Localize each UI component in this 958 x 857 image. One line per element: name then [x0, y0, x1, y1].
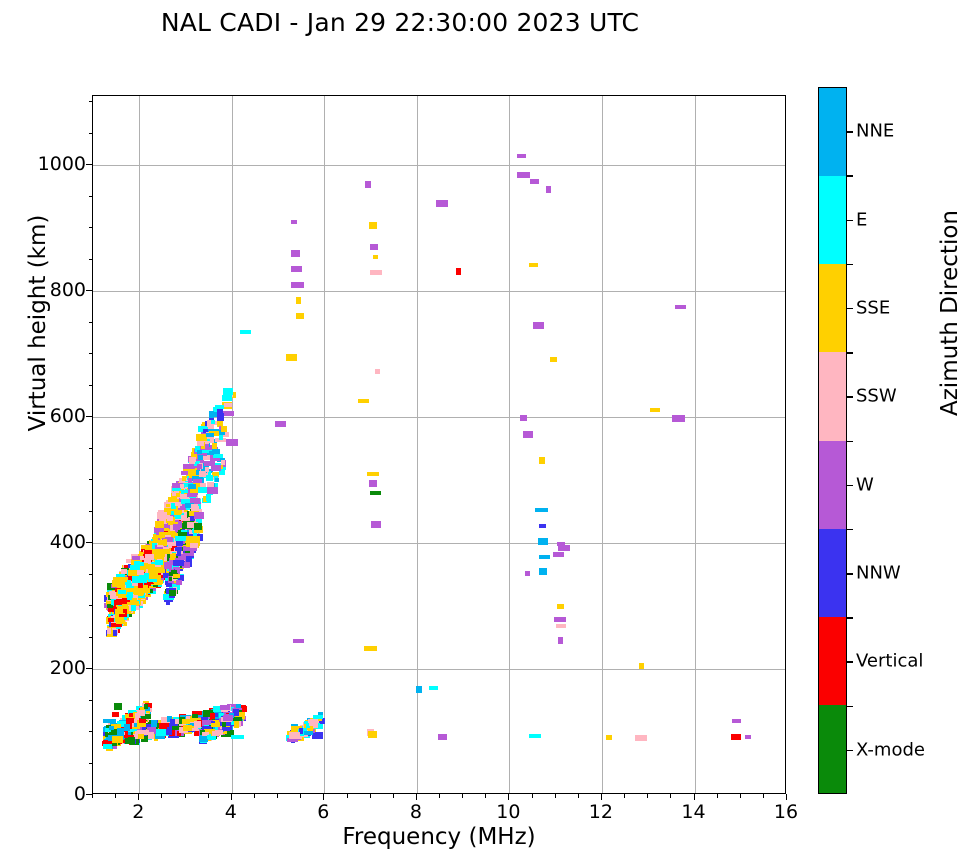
echo-mark [539, 555, 550, 559]
y-tick-label: 0 [74, 783, 86, 805]
echo-mark [144, 704, 148, 709]
x-tick-label: 16 [774, 801, 798, 823]
y-tick-major [86, 164, 92, 165]
y-tick-minor [89, 196, 93, 197]
y-tick-minor [89, 511, 93, 512]
echo-mark [109, 726, 114, 730]
echo-mark [118, 593, 123, 597]
colorbar-segment-vertical[interactable] [819, 617, 846, 705]
echo-mark [533, 322, 544, 329]
echo-mark [240, 330, 251, 334]
x-tick-major [508, 794, 509, 800]
echo-mark [234, 721, 239, 728]
y-tick-minor [89, 322, 93, 323]
echo-mark [212, 449, 220, 454]
x-tick-label: 12 [589, 801, 613, 823]
x-tick-minor [763, 794, 764, 798]
echo-mark [731, 734, 741, 740]
x-tick-minor [115, 794, 116, 798]
y-tick-major [86, 668, 92, 669]
echo-mark [175, 547, 182, 551]
echo-mark [364, 646, 377, 651]
plot-area[interactable] [92, 95, 786, 794]
echo-mark [732, 719, 741, 723]
echo-mark [375, 369, 380, 374]
echo-mark [304, 731, 313, 735]
colorbar-boundary-tick [847, 264, 853, 266]
colorbar-boundary-tick [847, 352, 853, 354]
gridline-vertical [139, 96, 140, 793]
echo-mark [523, 431, 533, 438]
y-tick-major [86, 290, 92, 291]
echo-mark [136, 577, 147, 583]
echo-mark [183, 464, 194, 469]
colorbar-tick [847, 308, 853, 310]
x-tick-minor [439, 794, 440, 798]
echo-mark [151, 720, 157, 727]
x-tick-minor [347, 794, 348, 798]
y-tick-minor [89, 731, 93, 732]
colorbar-segment-nne[interactable] [819, 88, 846, 176]
echo-mark [205, 467, 209, 472]
y-tick-minor [89, 385, 93, 386]
y-tick-minor [89, 133, 93, 134]
x-tick-major [786, 794, 787, 800]
colorbar-label-ssw: SSW [856, 386, 897, 407]
echo-mark [225, 411, 234, 416]
echo-mark [197, 450, 202, 454]
echo-mark [117, 728, 124, 735]
colorbar-tick [847, 396, 853, 398]
echo-mark [530, 179, 539, 184]
y-tick-minor [89, 479, 93, 480]
echo-mark [224, 403, 232, 407]
colorbar-label-x-mode: X-mode [856, 739, 925, 760]
echo-mark [114, 703, 122, 710]
echo-mark [312, 732, 323, 739]
echo-mark [222, 395, 232, 401]
echo-mark [429, 686, 438, 690]
x-tick-minor [161, 794, 162, 798]
echo-mark [217, 415, 224, 421]
x-tick-label: 10 [496, 801, 520, 823]
y-tick-label: 200 [50, 657, 86, 679]
x-tick-major [694, 794, 695, 800]
colorbar-tick [847, 661, 853, 663]
echo-mark [211, 723, 220, 727]
colorbar-segment-nnw[interactable] [819, 529, 846, 617]
colorbar-label-e: E [856, 209, 867, 230]
echo-mark [211, 420, 215, 424]
echo-mark [517, 154, 526, 158]
y-tick-minor [89, 700, 93, 701]
echo-mark [370, 270, 382, 275]
colorbar-boundary-tick [847, 441, 853, 443]
colorbar-segment-ssw[interactable] [819, 352, 846, 440]
echo-mark [635, 735, 647, 741]
echo-mark [189, 457, 195, 464]
echo-mark [371, 521, 381, 528]
x-tick-minor [300, 794, 301, 798]
echo-mark [149, 572, 157, 579]
echo-mark [221, 460, 225, 465]
echo-mark [198, 441, 204, 446]
x-tick-minor [555, 794, 556, 798]
y-axis-label: Virtual height (km) [25, 133, 51, 513]
x-tick-label: 4 [225, 801, 237, 823]
y-tick-minor [89, 763, 93, 764]
echo-mark [219, 435, 223, 440]
echo-mark [124, 724, 130, 731]
x-tick-minor [208, 794, 209, 798]
echo-mark [172, 553, 176, 558]
echo-mark [207, 735, 211, 739]
echo-mark [291, 220, 297, 224]
echo-mark [167, 727, 172, 734]
echo-mark [187, 493, 197, 497]
colorbar-segment-e[interactable] [819, 176, 846, 264]
echo-mark [436, 200, 448, 207]
echo-mark [129, 713, 133, 717]
colorbar-boundary-tick [847, 706, 853, 708]
echo-mark [164, 562, 172, 569]
echo-mark [291, 250, 300, 257]
echo-mark [538, 538, 548, 545]
x-tick-minor [254, 794, 255, 798]
echo-mark [529, 734, 541, 738]
echo-mark [369, 222, 377, 229]
page-title: NAL CADI - Jan 29 22:30:00 2023 UTC [0, 8, 800, 37]
colorbar-label-nne: NNE [856, 121, 894, 142]
echo-mark [291, 266, 302, 272]
echo-mark [173, 524, 180, 530]
echo-mark [309, 719, 318, 726]
x-tick-minor [485, 794, 486, 798]
echo-mark [126, 718, 134, 723]
x-tick-minor [185, 794, 186, 798]
echo-mark [296, 313, 304, 319]
echo-mark [212, 443, 217, 449]
echo-mark [296, 297, 301, 304]
colorbar-segment-w[interactable] [819, 441, 846, 529]
echo-mark [365, 181, 371, 188]
echo-mark [358, 399, 369, 403]
echo-mark [675, 305, 686, 309]
echo-mark [156, 729, 166, 736]
echo-mark [206, 433, 214, 437]
ionogram-figure: NAL CADI - Jan 29 22:30:00 2023 UTC 2468… [0, 0, 958, 857]
echo-mark [606, 735, 612, 740]
x-tick-minor [740, 794, 741, 798]
echo-mark [539, 524, 546, 528]
echo-mark [188, 484, 196, 489]
x-tick-label: 2 [132, 801, 144, 823]
colorbar-tick [847, 131, 853, 133]
echo-mark [456, 268, 461, 275]
echo-mark [182, 476, 186, 481]
y-tick-major [86, 416, 92, 417]
y-tick-label: 600 [50, 405, 86, 427]
x-tick-minor [370, 794, 371, 798]
echo-mark [127, 588, 135, 592]
echo-mark [198, 455, 203, 460]
x-tick-minor [532, 794, 533, 798]
echo-mark [148, 732, 154, 739]
echo-mark [191, 504, 198, 510]
gridline-horizontal [93, 291, 785, 292]
colorbar-boundary-tick [847, 529, 853, 531]
gridline-vertical [602, 96, 603, 793]
echo-mark [176, 541, 183, 546]
gridline-horizontal [93, 669, 785, 670]
echo-mark [438, 734, 447, 740]
y-tick-major [86, 794, 92, 795]
colorbar-tick [847, 573, 853, 575]
echo-mark [212, 731, 219, 736]
echo-mark [155, 560, 163, 565]
echo-mark [112, 736, 123, 743]
echo-mark [416, 686, 422, 693]
echo-mark [529, 263, 538, 267]
echo-mark [183, 725, 192, 731]
echo-mark [368, 731, 377, 738]
echo-mark [539, 568, 547, 575]
y-tick-label: 800 [50, 279, 86, 301]
echo-mark [369, 480, 377, 487]
echo-mark [554, 617, 566, 622]
x-tick-minor [277, 794, 278, 798]
y-tick-minor [89, 227, 93, 228]
x-tick-minor [462, 794, 463, 798]
gridline-vertical [509, 96, 510, 793]
colorbar-tick [847, 220, 853, 222]
echo-mark [215, 478, 219, 482]
echo-mark [193, 479, 202, 483]
echo-mark [154, 549, 165, 554]
echo-mark [107, 604, 113, 608]
echo-mark [194, 512, 204, 519]
echo-mark [179, 532, 187, 536]
echo-mark [127, 596, 132, 600]
y-tick-minor [89, 448, 93, 449]
gridline-vertical [324, 96, 325, 793]
y-tick-minor [89, 637, 93, 638]
colorbar-label-w: W [856, 474, 874, 495]
colorbar-label-sse: SSE [856, 297, 890, 318]
echo-mark [546, 186, 551, 193]
echo-mark [233, 709, 239, 716]
echo-mark [192, 714, 198, 718]
echo-mark [194, 523, 202, 530]
echo-mark [289, 732, 300, 739]
echo-mark [166, 583, 172, 587]
echo-mark [137, 710, 145, 716]
colorbar-tick [847, 485, 853, 487]
echo-mark [159, 532, 165, 538]
echo-mark [173, 560, 184, 566]
echo-mark [520, 415, 527, 421]
echo-mark [556, 624, 566, 628]
echo-mark [226, 439, 238, 446]
x-tick-label: 8 [410, 801, 422, 823]
colorbar-tick [847, 750, 853, 752]
echo-mark [122, 604, 128, 609]
echo-mark [173, 574, 180, 578]
y-tick-minor [89, 353, 93, 354]
colorbar-segment-x-mode[interactable] [819, 705, 846, 793]
echo-mark [204, 461, 215, 466]
echo-mark [539, 457, 545, 464]
echo-mark [223, 715, 233, 721]
echo-mark [155, 521, 164, 528]
x-tick-minor [670, 794, 671, 798]
echo-mark [199, 471, 206, 477]
gridline-horizontal [93, 165, 785, 166]
echo-mark [525, 571, 530, 576]
echo-mark [103, 744, 112, 749]
echo-mark [275, 421, 286, 427]
x-tick-minor [624, 794, 625, 798]
x-tick-major [138, 794, 139, 800]
x-tick-minor [92, 794, 93, 798]
y-tick-minor [89, 574, 93, 575]
echo-mark [221, 426, 227, 432]
x-tick-major [601, 794, 602, 800]
echo-mark [206, 475, 213, 481]
x-tick-label: 6 [317, 801, 329, 823]
echo-mark [136, 570, 144, 575]
echo-mark [181, 471, 188, 475]
echo-mark [182, 719, 190, 724]
y-tick-minor [89, 605, 93, 606]
x-tick-major [323, 794, 324, 800]
echo-mark [220, 705, 230, 710]
echo-mark [370, 244, 378, 250]
x-tick-major [231, 794, 232, 800]
colorbar[interactable] [818, 87, 847, 794]
echo-mark [553, 552, 564, 557]
x-tick-minor [717, 794, 718, 798]
echo-mark [128, 570, 137, 576]
x-tick-label: 14 [681, 801, 705, 823]
echo-mark [745, 735, 751, 739]
echo-mark [194, 721, 201, 728]
echo-mark [367, 472, 379, 476]
colorbar-title: Azimuth Direction [937, 123, 958, 503]
echo-mark [169, 590, 176, 596]
echo-mark [550, 357, 557, 362]
echo-mark [231, 735, 244, 739]
x-tick-minor [647, 794, 648, 798]
echo-mark [134, 588, 144, 595]
x-tick-minor [393, 794, 394, 798]
echo-mark [672, 415, 685, 422]
echo-mark [535, 508, 548, 512]
colorbar-segment-sse[interactable] [819, 264, 846, 352]
y-tick-label: 400 [50, 531, 86, 553]
echo-mark [223, 388, 233, 395]
echo-mark [112, 712, 119, 717]
echo-mark [138, 734, 144, 739]
echo-mark [190, 543, 198, 548]
echo-mark [107, 628, 111, 634]
echo-mark [206, 494, 211, 501]
echo-mark [139, 718, 146, 723]
echo-mark [557, 604, 564, 609]
colorbar-boundary-tick [847, 175, 853, 177]
echo-mark [286, 354, 297, 361]
echo-mark [558, 545, 570, 551]
colorbar-boundary-tick [847, 617, 853, 619]
echo-mark [145, 554, 154, 560]
y-tick-major [86, 542, 92, 543]
echo-mark [140, 556, 144, 560]
echo-mark [639, 663, 644, 669]
x-tick-major [416, 794, 417, 800]
echo-mark [207, 487, 218, 494]
x-axis-label: Frequency (MHz) [92, 824, 786, 850]
echo-mark [158, 540, 167, 545]
echo-mark [373, 255, 378, 259]
echo-mark [186, 556, 192, 562]
echo-mark [180, 484, 184, 488]
y-tick-minor [89, 259, 93, 260]
x-tick-minor [578, 794, 579, 798]
y-tick-minor [89, 101, 93, 102]
echo-mark [118, 590, 126, 594]
echo-mark [370, 491, 381, 495]
echo-mark [116, 620, 125, 624]
echo-mark [293, 639, 304, 643]
echo-mark [176, 580, 182, 585]
echo-mark [291, 282, 304, 288]
echo-mark [558, 637, 563, 644]
echo-mark [209, 411, 214, 418]
gridline-vertical [695, 96, 696, 793]
echo-mark [650, 408, 660, 412]
echo-mark [157, 512, 167, 519]
colorbar-label-nnw: NNW [856, 563, 901, 584]
colorbar-label-vertical: Vertical [856, 651, 923, 672]
echo-mark [217, 409, 223, 415]
echo-mark [167, 516, 173, 521]
echo-mark [517, 172, 530, 178]
